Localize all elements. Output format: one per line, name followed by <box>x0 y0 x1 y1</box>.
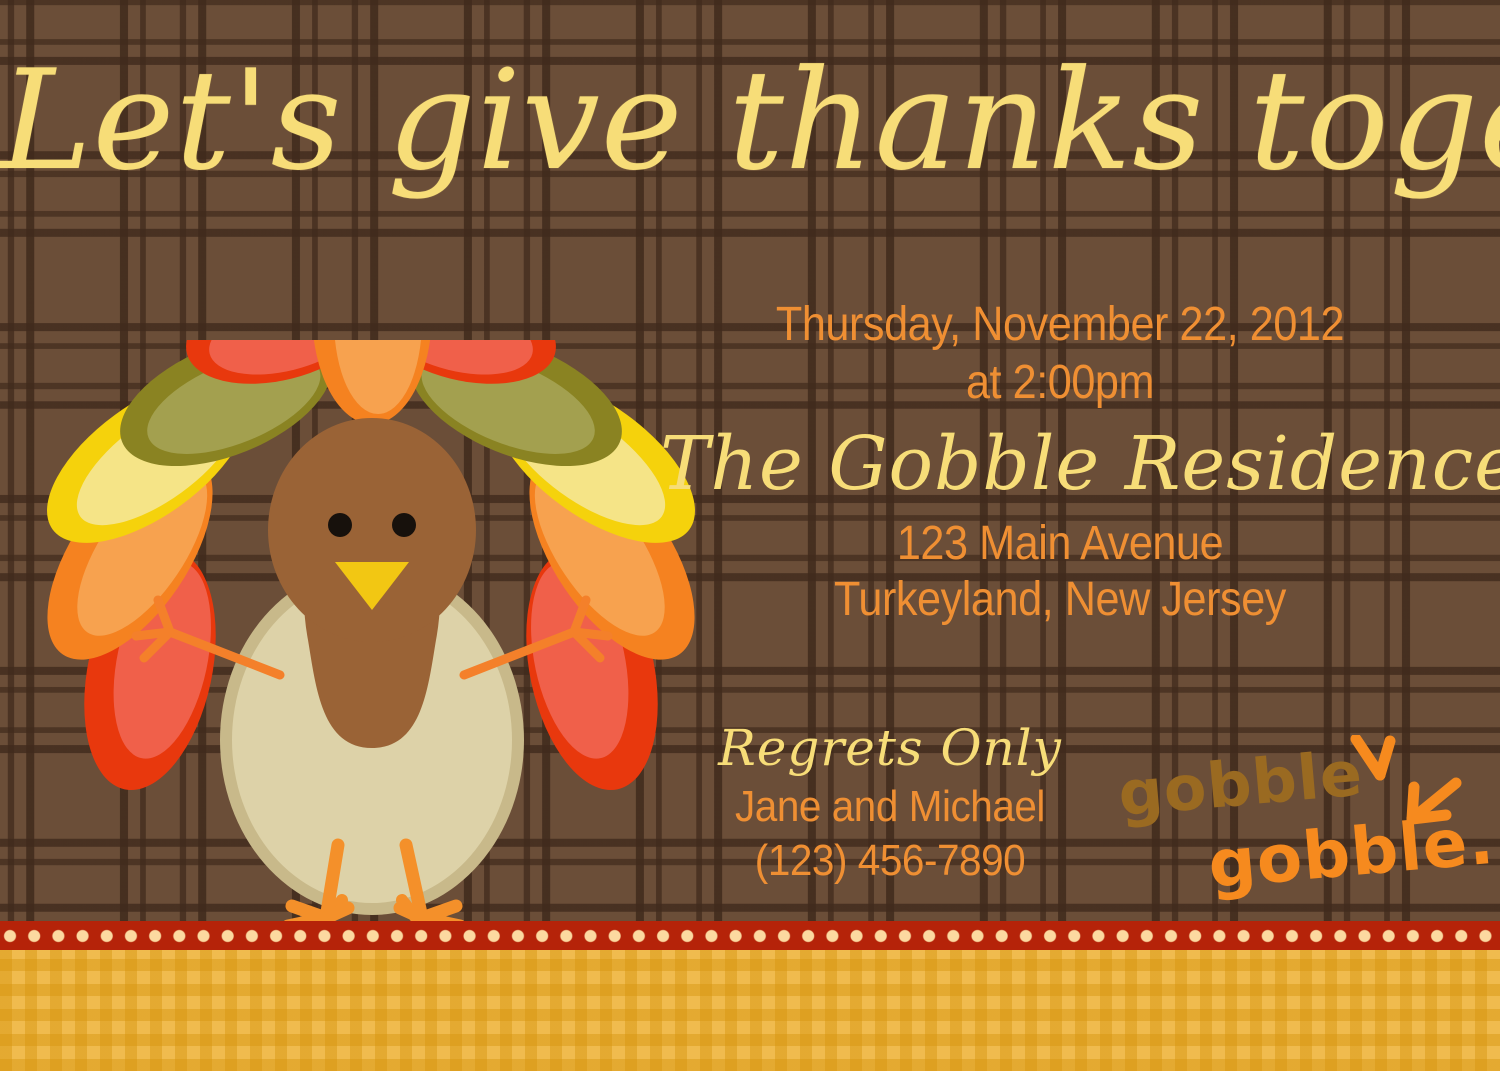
arrow-down-left-icon <box>1412 783 1456 819</box>
rsvp-hosts: Jane and Michael <box>697 780 1083 834</box>
event-address-line-1: 123 Main Avenue <box>700 516 1420 572</box>
event-venue: The Gobble Residence <box>660 412 1460 516</box>
turkey-icon <box>30 340 710 940</box>
rsvp-heading: Regrets Only <box>680 716 1100 780</box>
rsvp-phone: (123) 456-7890 <box>697 834 1083 888</box>
polka-dot-band <box>0 921 1500 950</box>
event-details: Thursday, November 22, 2012 at 2:00pm Th… <box>660 296 1460 628</box>
event-time: at 2:00pm <box>700 354 1420 412</box>
gobble-decoration: gobble gobble.. <box>1100 735 1480 905</box>
rsvp-block: Regrets Only Jane and Michael (123) 456-… <box>680 716 1100 888</box>
polka-dots <box>0 921 1500 950</box>
thanksgiving-invitation-card: Let's give thanks together! <box>0 0 1500 1071</box>
event-address-line-2: Turkeyland, New Jersey <box>700 572 1420 628</box>
gingham-footer <box>0 950 1500 1071</box>
arrow-down-right-icon <box>1356 739 1390 775</box>
page-title: Let's give thanks together! <box>0 52 1500 190</box>
event-date: Thursday, November 22, 2012 <box>700 296 1420 354</box>
